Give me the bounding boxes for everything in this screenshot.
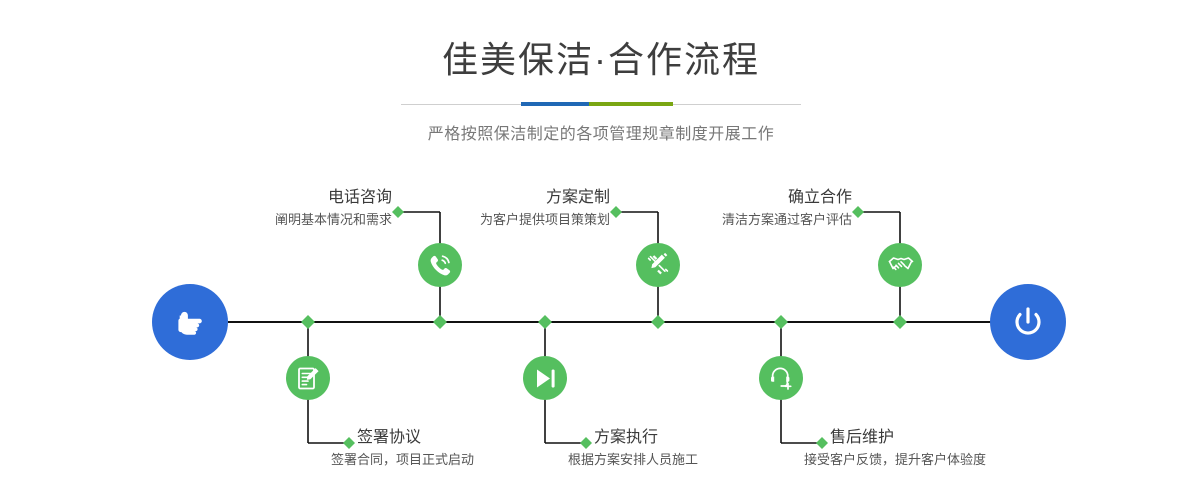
handshake-icon xyxy=(887,252,914,279)
step-node-1[interactable] xyxy=(418,243,462,287)
flow-end-node[interactable] xyxy=(990,284,1066,360)
power-button-icon xyxy=(1008,302,1048,342)
step-node-6[interactable] xyxy=(759,356,803,400)
step-label-1: 电话咨询 阐明基本情况和需求 xyxy=(180,188,392,230)
pencil-ruler-icon xyxy=(645,252,671,278)
step-title-2: 签署协议 xyxy=(357,428,587,448)
step-desc-2: 签署合同，项目正式启动 xyxy=(331,450,587,470)
flowchart-page: 佳美保洁·合作流程 严格按照保洁制定的各项管理规章制度开展工作 xyxy=(0,0,1202,502)
process-flow-diagram: 电话咨询 阐明基本情况和需求 方案定制 为客户提供项目策策划 确立合作 清洁方案… xyxy=(0,0,1202,502)
step-node-4[interactable] xyxy=(523,356,567,400)
step-title-5: 确立合作 xyxy=(640,188,852,208)
connector-lines xyxy=(0,0,1202,502)
step-label-2: 签署协议 签署合同，项目正式启动 xyxy=(357,428,587,470)
step-label-6: 售后维护 接受客户反馈，提升客户体验度 xyxy=(830,428,1080,470)
step-title-4: 方案执行 xyxy=(594,428,824,448)
step-label-4: 方案执行 根据方案安排人员施工 xyxy=(594,428,824,470)
step-desc-5: 清洁方案通过客户评估 xyxy=(640,210,852,230)
step-label-5: 确立合作 清洁方案通过客户评估 xyxy=(640,188,852,230)
step-title-3: 方案定制 xyxy=(398,188,610,208)
step-node-3[interactable] xyxy=(636,243,680,287)
step-node-5[interactable] xyxy=(878,243,922,287)
play-skip-icon xyxy=(533,366,558,391)
headset-support-icon xyxy=(768,365,794,391)
document-edit-icon xyxy=(296,366,321,391)
phone-call-icon xyxy=(427,252,453,278)
step-title-6: 售后维护 xyxy=(830,428,1080,448)
step-desc-6: 接受客户反馈，提升客户体验度 xyxy=(804,450,1080,470)
pointing-hand-icon xyxy=(170,302,210,342)
step-node-2[interactable] xyxy=(286,356,330,400)
flow-start-node[interactable] xyxy=(152,284,228,360)
step-desc-3: 为客户提供项目策策划 xyxy=(398,210,610,230)
step-desc-4: 根据方案安排人员施工 xyxy=(568,450,824,470)
step-title-1: 电话咨询 xyxy=(180,188,392,208)
step-label-3: 方案定制 为客户提供项目策策划 xyxy=(398,188,610,230)
step-desc-1: 阐明基本情况和需求 xyxy=(180,210,392,230)
